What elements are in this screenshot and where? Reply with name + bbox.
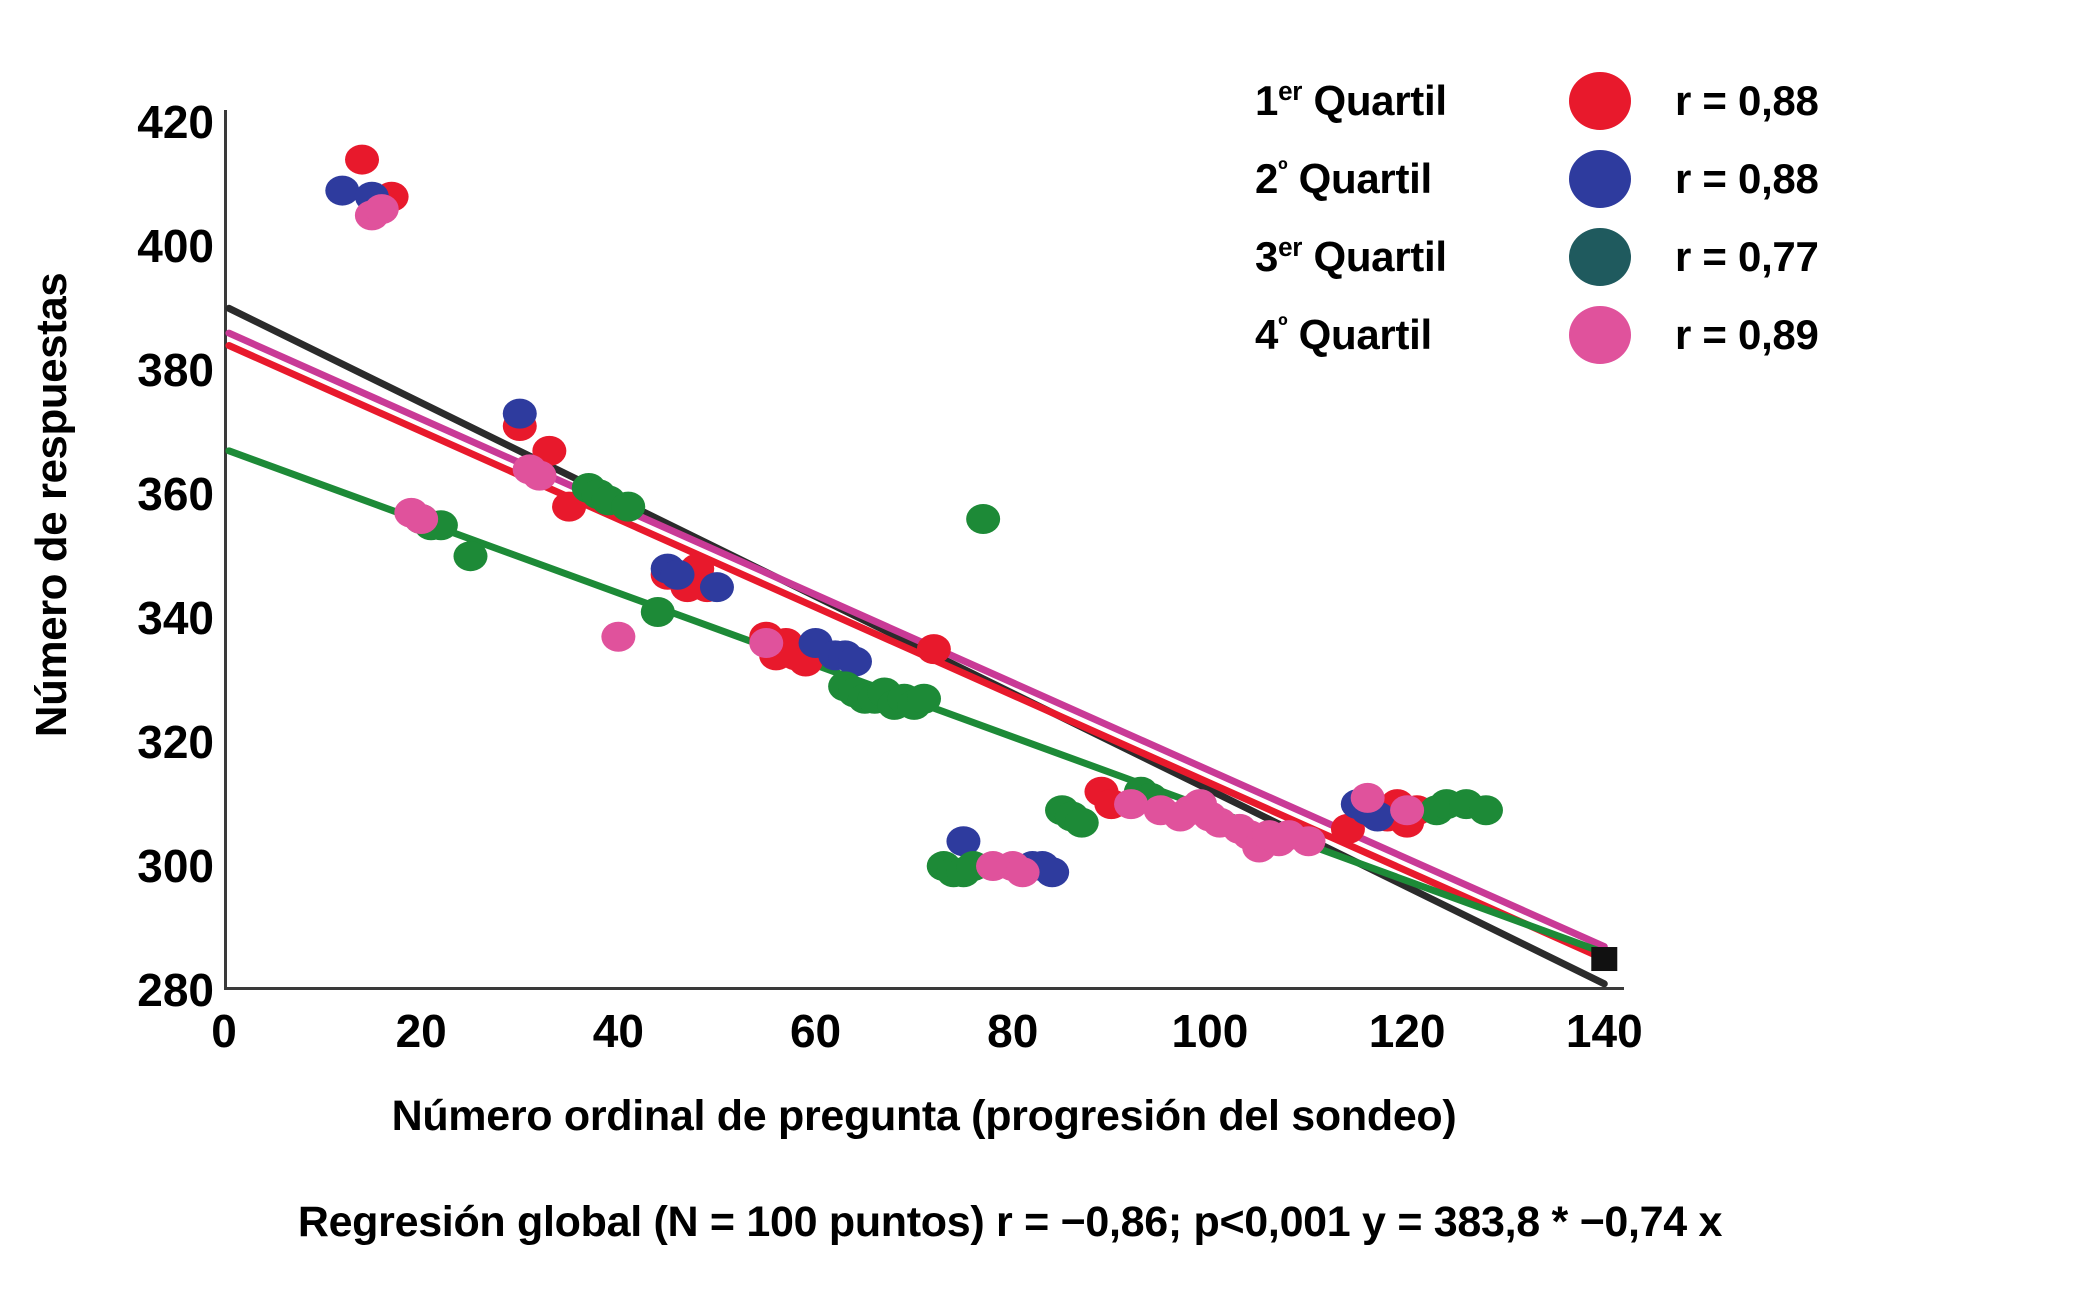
y-tick-label: 360 bbox=[54, 471, 214, 517]
data-point bbox=[917, 634, 951, 664]
trend-line-quartil-1-red bbox=[229, 345, 1604, 959]
x-axis-tick-labels: 020406080100120140 bbox=[224, 1008, 1624, 1068]
trend-line-quartil-4-magenta bbox=[229, 333, 1604, 947]
data-point bbox=[661, 560, 695, 590]
y-tick-label: 400 bbox=[54, 223, 214, 269]
x-tick-label: 120 bbox=[1327, 1008, 1487, 1054]
legend-correlation-2: r = 0,88 bbox=[1675, 155, 1819, 203]
y-tick-label: 300 bbox=[54, 843, 214, 889]
y-axis-tick-labels: 280300320340360380400420 bbox=[46, 110, 214, 990]
x-tick-label: 60 bbox=[736, 1008, 896, 1054]
x-tick-label: 100 bbox=[1130, 1008, 1290, 1054]
data-point bbox=[907, 684, 941, 714]
y-tick-label: 320 bbox=[54, 719, 214, 765]
legend-row-4: 4º Quartilr = 0,89 bbox=[1255, 296, 1875, 374]
x-tick-label: 0 bbox=[144, 1008, 304, 1054]
trend-line-global-black bbox=[229, 308, 1604, 983]
data-point bbox=[1390, 795, 1424, 825]
x-axis-title: Número ordinal de pregunta (progresión d… bbox=[224, 1092, 1624, 1141]
data-point bbox=[1114, 789, 1148, 819]
legend-row-2: 2º Quartilr = 0,88 bbox=[1255, 140, 1875, 218]
legend-color-dot-icon bbox=[1569, 150, 1631, 208]
legend-correlation-1: r = 0,88 bbox=[1675, 77, 1819, 125]
x-tick-label: 80 bbox=[933, 1008, 1093, 1054]
data-point bbox=[700, 572, 734, 602]
legend-correlation-3: r = 0,77 bbox=[1675, 233, 1819, 281]
data-point bbox=[1035, 857, 1069, 887]
data-point bbox=[1292, 826, 1326, 856]
data-point bbox=[601, 622, 635, 652]
y-tick-label: 280 bbox=[54, 967, 214, 1013]
figure-scatter-plot: Número de respuestas 2803003203403603804… bbox=[0, 0, 2085, 1291]
legend-color-dot-icon bbox=[1569, 306, 1631, 364]
data-point bbox=[325, 176, 359, 206]
data-point bbox=[966, 504, 1000, 534]
chart-legend: 1er Quartilr = 0,882º Quartilr = 0,883er… bbox=[1255, 62, 1875, 374]
legend-swatch-cell-3 bbox=[1525, 228, 1675, 286]
y-tick-label: 420 bbox=[54, 99, 214, 145]
legend-color-dot-icon bbox=[1569, 228, 1631, 286]
legend-label-4: 4º Quartil bbox=[1255, 311, 1525, 359]
data-point bbox=[365, 194, 399, 224]
data-point bbox=[611, 492, 645, 522]
data-point bbox=[522, 461, 556, 491]
legend-label-2: 2º Quartil bbox=[1255, 155, 1525, 203]
data-point bbox=[641, 597, 675, 627]
data-point bbox=[1065, 808, 1099, 838]
data-point bbox=[404, 504, 438, 534]
data-point bbox=[1469, 795, 1503, 825]
legend-label-1: 1er Quartil bbox=[1255, 77, 1525, 125]
legend-row-3: 3er Quartilr = 0,77 bbox=[1255, 218, 1875, 296]
legend-label-3: 3er Quartil bbox=[1255, 233, 1525, 281]
end-marker-square bbox=[1591, 947, 1617, 971]
legend-row-1: 1er Quartilr = 0,88 bbox=[1255, 62, 1875, 140]
x-tick-label: 20 bbox=[341, 1008, 501, 1054]
legend-color-dot-icon bbox=[1569, 72, 1631, 130]
data-point bbox=[345, 145, 379, 175]
legend-swatch-cell-1 bbox=[1525, 72, 1675, 130]
data-point bbox=[1351, 783, 1385, 813]
x-tick-label: 140 bbox=[1524, 1008, 1684, 1054]
legend-swatch-cell-2 bbox=[1525, 150, 1675, 208]
legend-swatch-cell-4 bbox=[1525, 306, 1675, 364]
data-point bbox=[453, 541, 487, 571]
data-point bbox=[749, 628, 783, 658]
regression-caption: Regresión global (N = 100 puntos) r = −0… bbox=[0, 1198, 2020, 1247]
y-tick-label: 340 bbox=[54, 595, 214, 641]
data-point bbox=[503, 399, 537, 429]
y-tick-label: 380 bbox=[54, 347, 214, 393]
data-point bbox=[1006, 857, 1040, 887]
x-tick-label: 40 bbox=[538, 1008, 698, 1054]
legend-correlation-4: r = 0,89 bbox=[1675, 311, 1819, 359]
